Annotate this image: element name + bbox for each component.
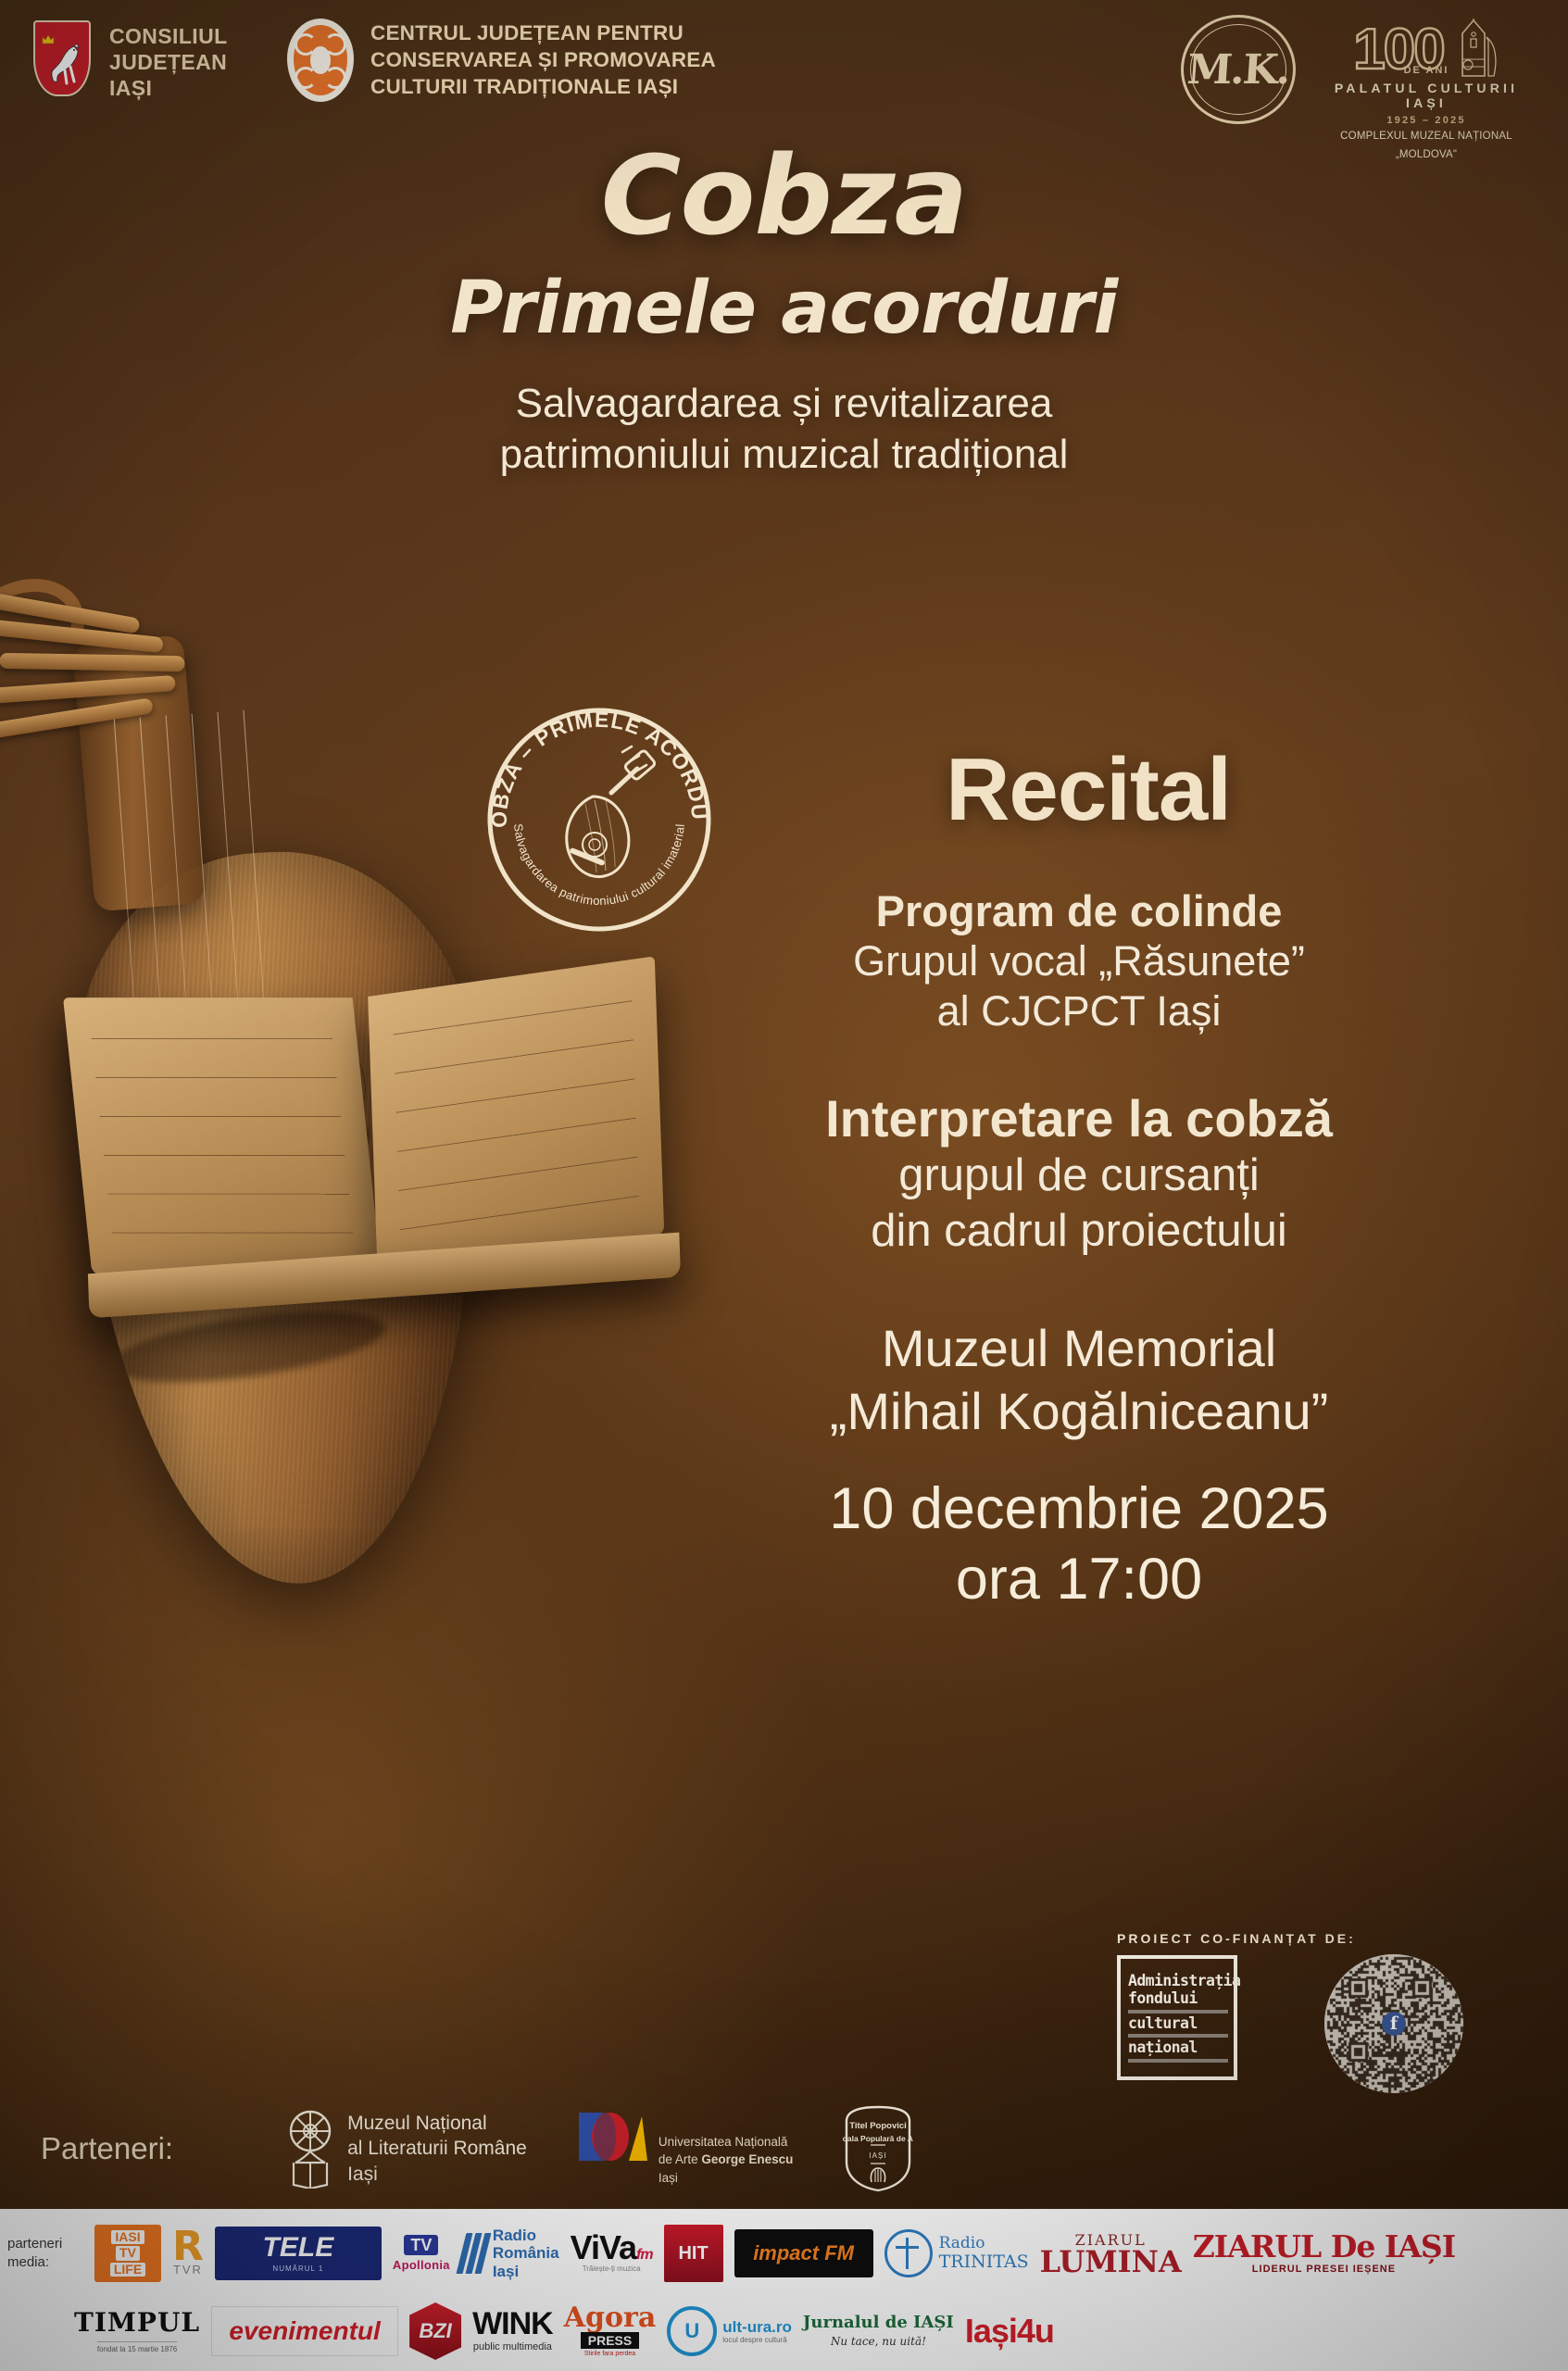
pc-de-ani-label: DE ANI bbox=[1311, 65, 1542, 76]
cjcpct-line-3: CULTURII TRADIȚIONALE IAȘI bbox=[370, 74, 716, 101]
event-datetime: 10 decembrie 2025 ora 17:00 bbox=[648, 1474, 1510, 1614]
media-logo-tv-apollonia: TV Apollonia bbox=[393, 2221, 450, 2286]
partners-label: Parteneri: bbox=[41, 2131, 173, 2166]
iasilife-l1: IASI bbox=[111, 2230, 144, 2244]
funding-label: PROIECT CO-FINANȚAT DE: bbox=[1117, 1931, 1356, 1946]
media-logo-evenimentul: evenimentul bbox=[211, 2299, 398, 2364]
afcn-line-2: fondului bbox=[1128, 1991, 1228, 2007]
logo-mk-monogram: M.K. bbox=[1181, 15, 1296, 124]
program-colinde-line-1: Grupul vocal „Răsunete” bbox=[648, 936, 1510, 987]
partner-mnlr: Muzeul Național al Literaturii Române Ia… bbox=[284, 2109, 527, 2189]
event-details: Recital Program de colinde Grupul vocal … bbox=[648, 746, 1510, 1615]
afcn-divider bbox=[1128, 2034, 1228, 2038]
cobza-peg bbox=[0, 590, 141, 634]
media-row-1: IASI TV LIFE R TVR TELE NUMĂRUL 1 bbox=[6, 2214, 1562, 2292]
cross-icon bbox=[884, 2229, 933, 2277]
jurnalul-l2: Nu tace, nu uită! bbox=[831, 2335, 926, 2348]
tagline-line-2: patrimoniului muzical tradițional bbox=[0, 429, 1568, 480]
cjcpct-text: CENTRUL JUDEȚEAN PENTRU CONSERVAREA ȘI P… bbox=[370, 19, 716, 100]
timpul-l2: fondat la 15 martie 1876 bbox=[97, 2341, 177, 2353]
partner-scoala-populara: Titel Popovici Școala Populară de Arte I… bbox=[843, 2104, 913, 2193]
tvr-caption: TVR bbox=[173, 2263, 203, 2277]
media-row-2: TIMPUL fondat la 15 martie 1876 evenimen… bbox=[6, 2292, 1562, 2370]
media-label-line-1: parteneri bbox=[7, 2235, 62, 2253]
consiliul-judetean-text: CONSILIUL JUDEȚEAN IAȘI bbox=[109, 20, 228, 101]
pc-years: 1925 – 2025 bbox=[1311, 115, 1542, 126]
tagline: Salvagardarea și revitalizarea patrimoni… bbox=[0, 378, 1568, 481]
event-date: 10 decembrie 2025 bbox=[648, 1474, 1510, 1545]
media-logo-agora-press: Agora PRESS Stirile fara perdea bbox=[564, 2299, 657, 2364]
logo-cjcpct: CENTRUL JUDEȚEAN PENTRU CONSERVAREA ȘI P… bbox=[287, 19, 716, 102]
media-logo-iasi4u: Iași4u bbox=[965, 2299, 1054, 2364]
unage-line-2-wrap: de Arte George Enescu bbox=[659, 2151, 794, 2169]
book-flower-icon bbox=[284, 2109, 336, 2189]
partner-unage: Universitatea Națională de Arte George E… bbox=[577, 2111, 794, 2188]
wink-l1: WINK bbox=[472, 2310, 553, 2339]
media-logo-viva-fm: ViVafm Trăiește-ți muzica bbox=[571, 2221, 653, 2286]
cj-line-3: IAȘI bbox=[109, 75, 228, 101]
mnlr-line-1: Muzeul Național bbox=[347, 2111, 527, 2136]
page-subtitle: Primele acorduri bbox=[0, 267, 1568, 350]
agora-l1: Agora bbox=[564, 2305, 657, 2330]
radrom-l2: România bbox=[493, 2244, 559, 2262]
cobza-peg bbox=[0, 697, 154, 741]
mnlr-line-2: al Literaturii Române bbox=[347, 2136, 527, 2161]
telem-sub: NUMĂRUL 1 bbox=[272, 2264, 323, 2273]
wink-l2: public multimedia bbox=[473, 2341, 552, 2352]
media-logo-radio-trinitas: Radio TRINITAS bbox=[884, 2221, 1029, 2286]
cobza-peg bbox=[0, 653, 185, 671]
book-page-right bbox=[368, 956, 664, 1274]
media-logo-bzi: BZI bbox=[409, 2299, 461, 2364]
media-logo-timpul: TIMPUL fondat la 15 martie 1876 bbox=[74, 2299, 200, 2364]
iasilife-l2: TV bbox=[116, 2246, 140, 2260]
cobza-scroll bbox=[0, 558, 102, 705]
viva-slogan: Trăiește-ți muzica bbox=[583, 2264, 641, 2273]
program-colinde-line-2: al CJCPCT Iași bbox=[648, 986, 1510, 1037]
media-logo-tele-m: TELE NUMĂRUL 1 bbox=[215, 2221, 382, 2286]
ultura-l1: ult-ura.ro bbox=[722, 2318, 792, 2336]
media-logo-ziarul-lumina: ZIARUL LUMINA bbox=[1040, 2221, 1182, 2286]
apollonia-caption: Apollonia bbox=[393, 2258, 450, 2272]
stamp-cobza-icon bbox=[567, 746, 656, 877]
interpretare-cobza-block: Interpretare la cobză grupul de cursanți… bbox=[648, 1089, 1510, 1259]
open-music-book bbox=[69, 966, 691, 1323]
partners-row: Parteneri: Muzeul Național al Literaturi… bbox=[0, 2089, 1568, 2209]
bzi-l1: BZI bbox=[409, 2302, 461, 2360]
lumina-l2: LUMINA bbox=[1040, 2249, 1182, 2276]
pc-city: IAȘI bbox=[1311, 95, 1542, 110]
trinitas-l2: TRINITAS bbox=[939, 2252, 1029, 2272]
iasi4u-l1: Iași4u bbox=[965, 2315, 1054, 2348]
partner-mnlr-text: Muzeul Național al Literaturii Române Ia… bbox=[347, 2111, 527, 2187]
cj-line-1: CONSILIUL bbox=[109, 23, 228, 49]
agora-l2: PRESS bbox=[581, 2332, 639, 2349]
viva-word: ViVa bbox=[571, 2228, 636, 2266]
cobza-peg bbox=[0, 619, 164, 653]
spa-line-1: Titel Popovici bbox=[850, 2121, 908, 2131]
media-logo-tvr: R TVR bbox=[172, 2221, 204, 2286]
cobza-peg bbox=[0, 675, 176, 704]
ultura-u-icon: U bbox=[667, 2306, 717, 2356]
cobza-pegbox bbox=[0, 551, 242, 782]
palace-tower-icon bbox=[1448, 19, 1499, 78]
unage-line-3: Iași bbox=[659, 2169, 794, 2188]
iasi-county-shield-icon bbox=[33, 20, 91, 96]
media-partners-footer: parteneri media: IASI TV LIFE R TVR TELE bbox=[0, 2209, 1568, 2371]
mk-oval-frame: M.K. bbox=[1181, 15, 1296, 124]
cobza-neck bbox=[72, 634, 207, 911]
afcn-line-4: național bbox=[1128, 2040, 1228, 2056]
tvr-mark: R bbox=[172, 2230, 204, 2263]
traditional-ornament-icon bbox=[287, 19, 354, 102]
program-colinde-block: Program de colinde Grupul vocal „Răsunet… bbox=[648, 886, 1510, 1037]
media-label-line-2: media: bbox=[7, 2253, 62, 2272]
iasilife-l3: LIFE bbox=[110, 2263, 145, 2277]
spa-line-3: IAȘI bbox=[870, 2151, 887, 2160]
zdi-l2: LIDERUL PRESEI IEȘENE bbox=[1252, 2264, 1396, 2275]
qr-code[interactable]: f bbox=[1324, 1954, 1463, 2093]
afcn-divider bbox=[1128, 2010, 1228, 2013]
radrom-l3: Iași bbox=[493, 2263, 559, 2280]
venue-block: Muzeul Memorial „Mihail Kogălniceanu” bbox=[648, 1317, 1510, 1444]
pc-name: PALATUL CULTURII bbox=[1311, 81, 1542, 95]
funding-block: PROIECT CO-FINANȚAT DE: Administrația fo… bbox=[1117, 1931, 1356, 2080]
afcn-logo: Administrația fondului cultural național bbox=[1117, 1955, 1237, 2080]
poster-root: CONSILIUL JUDEȚEAN IAȘI CENTRUL JUDEȚEAN… bbox=[0, 0, 1568, 2371]
zdi-l1: ZIARUL De IAȘI bbox=[1193, 2232, 1455, 2261]
unage-mark-icon bbox=[577, 2111, 649, 2164]
page-title: Cobza bbox=[0, 139, 1568, 254]
radio-romania-bars-icon bbox=[456, 2233, 491, 2274]
lyre-icon bbox=[872, 2168, 885, 2182]
viva-sup: fm bbox=[636, 2247, 653, 2263]
trinitas-l1: Radio bbox=[939, 2235, 1029, 2252]
media-logo-iasi-life: IASI TV LIFE bbox=[94, 2221, 161, 2286]
recital-heading: Recital bbox=[667, 746, 1510, 834]
agora-l3: Stirile fara perdea bbox=[584, 2351, 635, 2357]
title-block: Cobza Primele acorduri Salvagardarea și … bbox=[0, 139, 1568, 481]
afcn-line-3: cultural bbox=[1128, 2016, 1228, 2032]
apollonia-tag: TV bbox=[404, 2235, 438, 2255]
partner-unage-text: Universitatea Națională de Arte George E… bbox=[659, 2111, 794, 2188]
program-colinde-heading: Program de colinde bbox=[648, 886, 1510, 936]
facebook-icon: f bbox=[1382, 2012, 1406, 2036]
telem-main: TELE bbox=[263, 2234, 334, 2262]
impact-word: impact FM bbox=[734, 2229, 873, 2277]
afcn-line-1: Administrația bbox=[1128, 1974, 1228, 1989]
media-logo-radio-hit: HIT bbox=[664, 2221, 723, 2286]
venue-line-2: „Mihail Kogălniceanu” bbox=[648, 1380, 1510, 1443]
ultura-l2: locul despre cultură bbox=[722, 2336, 792, 2344]
scoala-populara-badge-icon: Titel Popovici Școala Populară de Arte I… bbox=[843, 2104, 913, 2193]
unage-line-2a: de Arte bbox=[659, 2152, 702, 2166]
logo-consiliul-judetean: CONSILIUL JUDEȚEAN IAȘI bbox=[33, 20, 228, 101]
even-l1: evenimentul bbox=[229, 2316, 380, 2345]
event-time: ora 17:00 bbox=[648, 1545, 1510, 1615]
media-partners-label: parteneri media: bbox=[7, 2235, 62, 2273]
hit-word: HIT bbox=[664, 2225, 723, 2282]
unage-line-1: Universitatea Națională bbox=[659, 2133, 794, 2151]
timpul-l1: TIMPUL bbox=[74, 2310, 200, 2336]
spa-line-2: Școala Populară de Arte bbox=[843, 2134, 913, 2143]
media-logo-ziarul-de-iasi: ZIARUL De IAȘI LIDERUL PRESEI IEȘENE bbox=[1193, 2221, 1455, 2286]
unage-line-2b: George Enescu bbox=[701, 2152, 793, 2166]
media-logo-impact-fm: impact FM bbox=[734, 2221, 873, 2286]
cjcpct-line-2: CONSERVAREA ȘI PROMOVAREA bbox=[370, 47, 716, 74]
media-logo-radio-romania-iasi: Radio România Iași bbox=[461, 2221, 559, 2286]
horse-icon bbox=[46, 43, 83, 87]
media-logo-ultura: U ult-ura.ro locul despre cultură bbox=[667, 2299, 792, 2364]
mk-monogram-text: M.K. bbox=[1185, 46, 1290, 94]
tagline-line-1: Salvagardarea și revitalizarea bbox=[0, 378, 1568, 429]
interpretare-heading: Interpretare la cobză bbox=[648, 1089, 1510, 1148]
afcn-divider bbox=[1128, 2059, 1228, 2063]
book-page-left bbox=[63, 997, 382, 1275]
mnlr-line-3: Iași bbox=[347, 2162, 527, 2187]
interpretare-line-2: din cadrul proiectului bbox=[648, 1204, 1510, 1260]
interpretare-line-1: grupul de cursanți bbox=[648, 1148, 1510, 1204]
cj-line-2: JUDEȚEAN bbox=[109, 49, 228, 75]
radrom-l1: Radio bbox=[493, 2227, 559, 2244]
venue-line-1: Muzeul Memorial bbox=[648, 1317, 1510, 1380]
media-logo-wink: WINK public multimedia bbox=[472, 2299, 553, 2364]
jurnalul-l1: Jurnalul de IAȘI bbox=[803, 2315, 954, 2331]
media-logo-jurnalul-de-iasi: Jurnalul de IAȘI Nu tace, nu uită! bbox=[803, 2299, 954, 2364]
cjcpct-line-1: CENTRUL JUDEȚEAN PENTRU bbox=[370, 20, 716, 47]
